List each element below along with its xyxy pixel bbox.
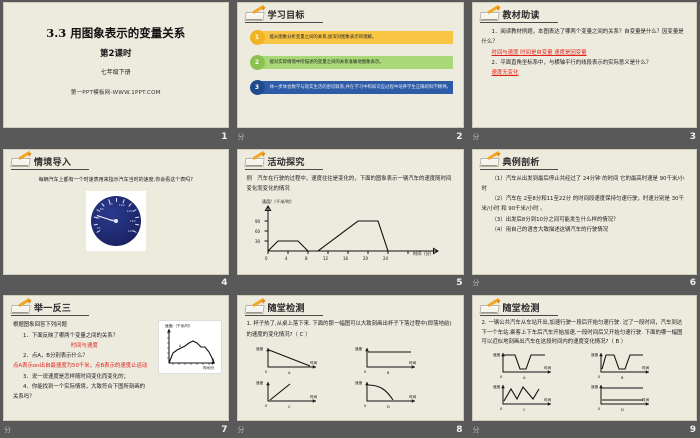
footer-left-3: 分 [473, 132, 480, 142]
slide-cell-7[interactable]: 举一反三 根据图象回答下列问题 1．下面反映了哪两个变量之间的关系？ 时间与速度… [0, 293, 232, 438]
option-xlabel: 时间 [642, 397, 650, 402]
xtick-16: 16 [343, 256, 349, 261]
slide-number-2: 2 [456, 132, 462, 142]
option-letter-B: B [621, 376, 624, 379]
slide-footer-6: 分 6 [469, 275, 700, 291]
book-pencil-icon [245, 9, 265, 21]
slide-number-4: 4 [221, 278, 227, 288]
slide-number-1: 1 [221, 132, 227, 142]
header-title-6: 典例剖析 [503, 155, 540, 168]
slide-header-8: 随堂检测 [238, 296, 463, 314]
slide-number-6: 6 [690, 278, 696, 288]
slide-header-9: 随堂检测 [473, 296, 697, 314]
book-pencil-icon [480, 155, 500, 167]
mcq-options-8: 速度 0 A 时间 速度 0 B 时间 [238, 340, 463, 409]
origin-label: 0 [598, 407, 601, 411]
slide-header-7: 举一反三 [4, 296, 228, 314]
dial-label-0: 20 [97, 226, 101, 230]
slide-question-9: 2. 一辆公共汽车从车站开出,加速行驶一段后开始匀速行驶. 过了一段时间，汽车到… [473, 316, 697, 347]
xtick-20: 20 [363, 256, 369, 261]
slide-2[interactable]: 学习目标 1 能从图象分析变量之间的关系,加深对图象表示的理解。 2 能对实际情… [237, 2, 464, 128]
speedometer-image: 20 40 60 80 100 120 140 160 km/h [86, 191, 146, 251]
body-line: （2）汽车在 2至8分和11至22分 的时间段速度保持匀速行驶，时速分别是 30… [482, 194, 688, 215]
body-line-answer: 点A表示он出自最速度为50千米，点B表示的速度止运动 [13, 361, 156, 371]
slide-footer-7: 分 7 [0, 422, 232, 438]
option-xlabel: 时间 [409, 394, 417, 399]
slide-number-8: 8 [456, 425, 462, 435]
header-title-9: 随堂检测 [503, 301, 540, 314]
slide-cell-4[interactable]: 情境导入 每辆汽车上都有一个时速表用来指示汽车当时的速度,你会看这个表吗? [0, 147, 232, 292]
option-letter-D: D [621, 408, 624, 411]
mcq-options-9: 速度 0 A 时间 速度 0 B 时间 [473, 347, 697, 411]
origin-label: 0 [265, 370, 268, 374]
objective-number-1: 1 [250, 30, 265, 45]
slide-header-2: 学习目标 [238, 3, 463, 21]
xtick-8: 8 [305, 256, 308, 261]
dial-label-7: 160 [128, 229, 134, 233]
slide-footer-8: 分 8 [234, 422, 467, 438]
mcq-option-D[interactable]: 速度 0 D 时间 [353, 377, 429, 409]
option-ylabel: 速度 [256, 346, 264, 351]
book-pencil-icon [245, 302, 265, 314]
book-pencil-icon [245, 155, 265, 167]
slide-9[interactable]: 随堂检测 2. 一辆公共汽车从车站开出,加速行驶一段后开始匀速行驶. 过了一段时… [472, 295, 698, 421]
objective-text-3: 体一步体会数学与现实生活的密切联系,并在学习中和知识应过程中培养学生正确的科学精… [258, 81, 453, 94]
mcq-option-B[interactable]: 速度 0 B 时间 [587, 349, 663, 379]
body-line: 4．你能找到一个实际情境，大致符合下图所刻画的 [13, 382, 156, 392]
option-xlabel: 时间 [310, 360, 318, 365]
speed-time-chart: 速度/（千米/时） 30 60 90 [248, 195, 463, 261]
objective-item-2: 2 能对实际情境中所描述的变量之间的关系准确地图象表示。 [250, 54, 453, 71]
slide-body-7: 根据图象回答下列问题 1．下面反映了哪两个变量之间的关系？ 时间与速度 2．点A… [4, 316, 158, 402]
page-title: 3.3 用图象表示的变量关系 [46, 25, 185, 41]
body-line: 关系吗？ [13, 392, 156, 402]
objective-number-2: 2 [250, 55, 265, 70]
option-letter-D: D [387, 405, 390, 409]
slide-subtitle: 第2课时 [100, 47, 131, 59]
slide-cell-5[interactable]: 活动探究 例 汽车在行驶的过程中，速度往往是变化的，下面的图象表示一辆汽车的速度… [234, 147, 467, 292]
option-letter-B: B [387, 371, 390, 375]
slide-question-8: 1. 杯子热了,从桌上落下来. 下面的那一幅图可以大致刻画出杯子下落过程中(即落… [238, 316, 463, 340]
body-line: 3．说一说速度是怎样随时间变化而变化的； [13, 372, 156, 382]
slide-cell-2[interactable]: 学习目标 1 能从图象分析变量之间的关系,加深对图象表示的理解。 2 能对实际情… [234, 0, 467, 145]
ytick-90: 90 [255, 219, 261, 224]
option-xlabel: 时间 [409, 360, 417, 365]
point-label-B: B [212, 358, 215, 362]
objective-item-3: 3 体一步体会数学与现实生活的密切联系,并在学习中和知识应过程中培养学生正确的科… [250, 79, 453, 96]
speedometer-dial: 20 40 60 80 100 120 140 160 km/h [91, 196, 141, 246]
option-xlabel: 时间 [544, 397, 552, 402]
option-ylabel: 速度 [591, 352, 599, 357]
footer-left-2: 分 [238, 132, 245, 142]
objective-list: 1 能从图象分析变量之间的关系,加深对图象表示的理解。 2 能对实际情境中所描述… [238, 23, 463, 96]
slide-7[interactable]: 举一反三 根据图象回答下列问题 1．下面反映了哪两个变量之间的关系？ 时间与速度… [3, 295, 229, 421]
slide-header-6: 典例剖析 [473, 150, 697, 168]
header-title-4: 情境导入 [34, 155, 71, 168]
option-letter-A: A [288, 371, 291, 375]
slide-body-6: （1）汽车从出发到最后停止共经过了 24分钟 的时间 它的最高时速是 90千米/… [473, 170, 697, 236]
slide-question-4: 每辆汽车上都有一个时速表用来指示汽车当时的速度,你会看这个表吗? [4, 170, 228, 186]
book-pencil-icon [480, 302, 500, 314]
slide-cell-8[interactable]: 随堂检测 1. 杯子热了,从桌上落下来. 下面的那一幅图可以大致刻画出杯子下落过… [234, 293, 467, 438]
chart-ylabel: 速度/（千米/时） [262, 198, 294, 205]
dial-label-4: 100 [119, 203, 125, 207]
header-title-5: 活动探究 [268, 155, 305, 168]
xtick-0: 0 [265, 256, 268, 261]
objective-item-1: 1 能从图象分析变量之间的关系,加深对图象表示的理解。 [250, 29, 453, 46]
objective-text-2: 能对实际情境中所描述的变量之间的关系准确地图象表示。 [258, 56, 453, 69]
xtick-12: 12 [323, 256, 329, 261]
slide-question-5: 例 汽车在行驶的过程中，速度往往是变化的，下面的图象表示一辆汽车的速度随时间变化… [238, 170, 463, 195]
body-line: （1）汽车从出发到最后停止共经过了 24分钟 的时间 它的最高时速是 90千米/… [482, 174, 688, 195]
mcq-option-A[interactable]: 速度 0 A 时间 [254, 343, 330, 375]
slide-footer-1: 1 [0, 129, 232, 145]
mcq-option-C[interactable]: 速度 0 C 时间 [489, 381, 565, 411]
ytick-60: 60 [255, 229, 261, 234]
footer-left-6: 分 [473, 278, 480, 288]
slide-header-3: 教材助读 [473, 3, 697, 21]
option-ylabel: 速度 [355, 346, 363, 351]
slide-footer-9: 分 9 [469, 422, 700, 438]
slide-cell-3[interactable]: 教材助读 1．阅读教材例题，本图表达了哪两个变量之间的关系？自变量是什么？因变量… [469, 0, 700, 145]
slide-footer-4: 4 [0, 275, 232, 291]
mini-ylabel: 速度/（千米/时） [165, 323, 193, 328]
xtick-4: 4 [285, 256, 288, 261]
origin-label: 0 [265, 404, 268, 408]
slide-header-5: 活动探究 [238, 150, 463, 168]
origin-label: 0 [364, 404, 367, 408]
mcq-option-D[interactable]: 速度 0 D 时间 [587, 381, 663, 411]
body-line: （3）出发后8分到10分之间可能发生什么样的情况？ [482, 215, 688, 225]
option-ylabel: 速度 [256, 380, 264, 385]
book-pencil-icon [11, 302, 31, 314]
origin-label: 0 [500, 375, 503, 379]
slide-5[interactable]: 活动探究 例 汽车在行驶的过程中，速度往往是变化的，下面的图象表示一辆汽车的速度… [237, 149, 464, 275]
slide-cell-1[interactable]: 3.3 用图象表示的变量关系 第2课时 七年级下册 第一PPT模板网-WWW.1… [0, 0, 232, 145]
body-line-answer: 速度无变化 [482, 68, 688, 78]
slide-body-3: 1．阅读教材例题，本图表达了哪两个变量之间的关系？自变量是什么？因变量是什么？ … [473, 23, 697, 78]
xtick-24: 24 [383, 256, 389, 261]
option-ylabel: 速度 [493, 384, 501, 389]
speed-time-mini-chart: 速度/（千米/时） [158, 320, 222, 374]
header-title-8: 随堂检测 [268, 301, 305, 314]
slide-cell-6[interactable]: 典例剖析 （1）汽车从出发到最后停止共经过了 24分钟 的时间 它的最高时速是 … [469, 147, 700, 292]
dial-label-3: 80 [109, 202, 113, 206]
origin-label: 0 [598, 375, 601, 379]
option-letter-C: C [288, 405, 291, 409]
mcq-option-A[interactable]: 速度 0 A 时间 [489, 349, 565, 379]
body-line-answer: 时间与速度 [13, 341, 156, 351]
option-ylabel: 速度 [591, 384, 599, 389]
slide-number-5: 5 [456, 278, 462, 288]
book-pencil-icon [480, 9, 500, 21]
slide-footer-2: 分 2 [234, 129, 467, 145]
slide-3[interactable]: 教材助读 1．阅读教材例题，本图表达了哪两个变量之间的关系？自变量是什么？因变量… [472, 2, 698, 128]
slide-footer-5: 5 [234, 275, 467, 291]
slide-number-7: 7 [221, 425, 227, 435]
option-ylabel: 速度 [355, 380, 363, 385]
origin-label: 0 [500, 407, 503, 411]
body-intro: 根据图象回答下列问题 [13, 320, 156, 330]
header-title-3: 教材助读 [503, 8, 540, 21]
slide-1[interactable]: 3.3 用图象表示的变量关系 第2课时 七年级下册 第一PPT模板网-WWW.1… [3, 2, 229, 128]
header-title-2: 学习目标 [268, 8, 305, 21]
option-letter-A: A [523, 376, 526, 379]
dial-label-6: 140 [130, 219, 136, 223]
slide-source: 第一PPT模板网-WWW.1PPT.COM [71, 88, 161, 96]
slide-grade: 七年级下册 [101, 67, 131, 76]
mcq-option-C[interactable]: 速度 0 C 时间 [254, 377, 330, 409]
footer-left-8: 分 [238, 425, 245, 435]
body-line: 1．下面反映了哪两个变量之间的关系？ [13, 331, 156, 341]
slide-number-9: 9 [690, 425, 696, 435]
body-line: 1．阅读教材例题，本图表达了哪两个变量之间的关系？自变量是什么？因变量是什么？ [482, 27, 688, 48]
slide-4[interactable]: 情境导入 每辆汽车上都有一个时速表用来指示汽车当时的速度,你会看这个表吗? [3, 149, 229, 275]
slide-6[interactable]: 典例剖析 （1）汽车从出发到最后停止共经过了 24分钟 的时间 它的最高时速是 … [472, 149, 698, 275]
book-pencil-icon [11, 155, 31, 167]
option-ylabel: 速度 [493, 352, 501, 357]
chart-xlabel: 时间（分） [413, 250, 434, 257]
objective-text-1: 能从图象分析变量之间的关系,加深对图象表示的理解。 [258, 31, 453, 44]
slide-8[interactable]: 随堂检测 1. 杯子热了,从桌上落下来. 下面的那一幅图可以大致刻画出杯子下落过… [237, 295, 464, 421]
origin-label: 0 [364, 370, 367, 374]
mcq-option-B[interactable]: 速度 0 B 时间 [353, 343, 429, 375]
body-line-answer: 时间与速度 时间是自变量 速度是因变量 [482, 48, 688, 58]
footer-left-9: 分 [473, 425, 480, 435]
slide-number-3: 3 [690, 132, 696, 142]
footer-left-7: 分 [4, 425, 11, 435]
body-line: 2．点A，B分别表示什么？ [13, 351, 156, 361]
slide-footer-3: 分 3 [469, 129, 700, 145]
dial-label-2: 60 [100, 207, 104, 211]
ytick-30: 30 [255, 239, 261, 244]
option-xlabel: 时间 [544, 365, 552, 370]
slide-thumbnail-grid: 3.3 用图象表示的变量关系 第2课时 七年级下册 第一PPT模板网-WWW.1… [0, 0, 700, 438]
objective-number-3: 3 [250, 80, 265, 95]
slide-cell-9[interactable]: 随堂检测 2. 一辆公共汽车从车站开出,加速行驶一段后开始匀速行驶. 过了一段时… [469, 293, 700, 438]
dial-label-5: 120 [127, 209, 133, 213]
option-xlabel: 时间 [310, 394, 318, 399]
speedometer-hub [114, 219, 118, 223]
option-letter-C: C [523, 408, 526, 411]
slide-header-4: 情境导入 [4, 150, 228, 168]
body-line: （4）用自己的语言大致描述这辆汽车的行驶情况 [482, 225, 688, 235]
header-title-7: 举一反三 [34, 301, 71, 314]
mini-xlabel: 时间/分 [203, 365, 215, 370]
body-line: 2．平面直角坐标系中，与横轴平行的线段表示的实际意义是什么？ [482, 58, 688, 68]
option-xlabel: 时间 [642, 365, 650, 370]
